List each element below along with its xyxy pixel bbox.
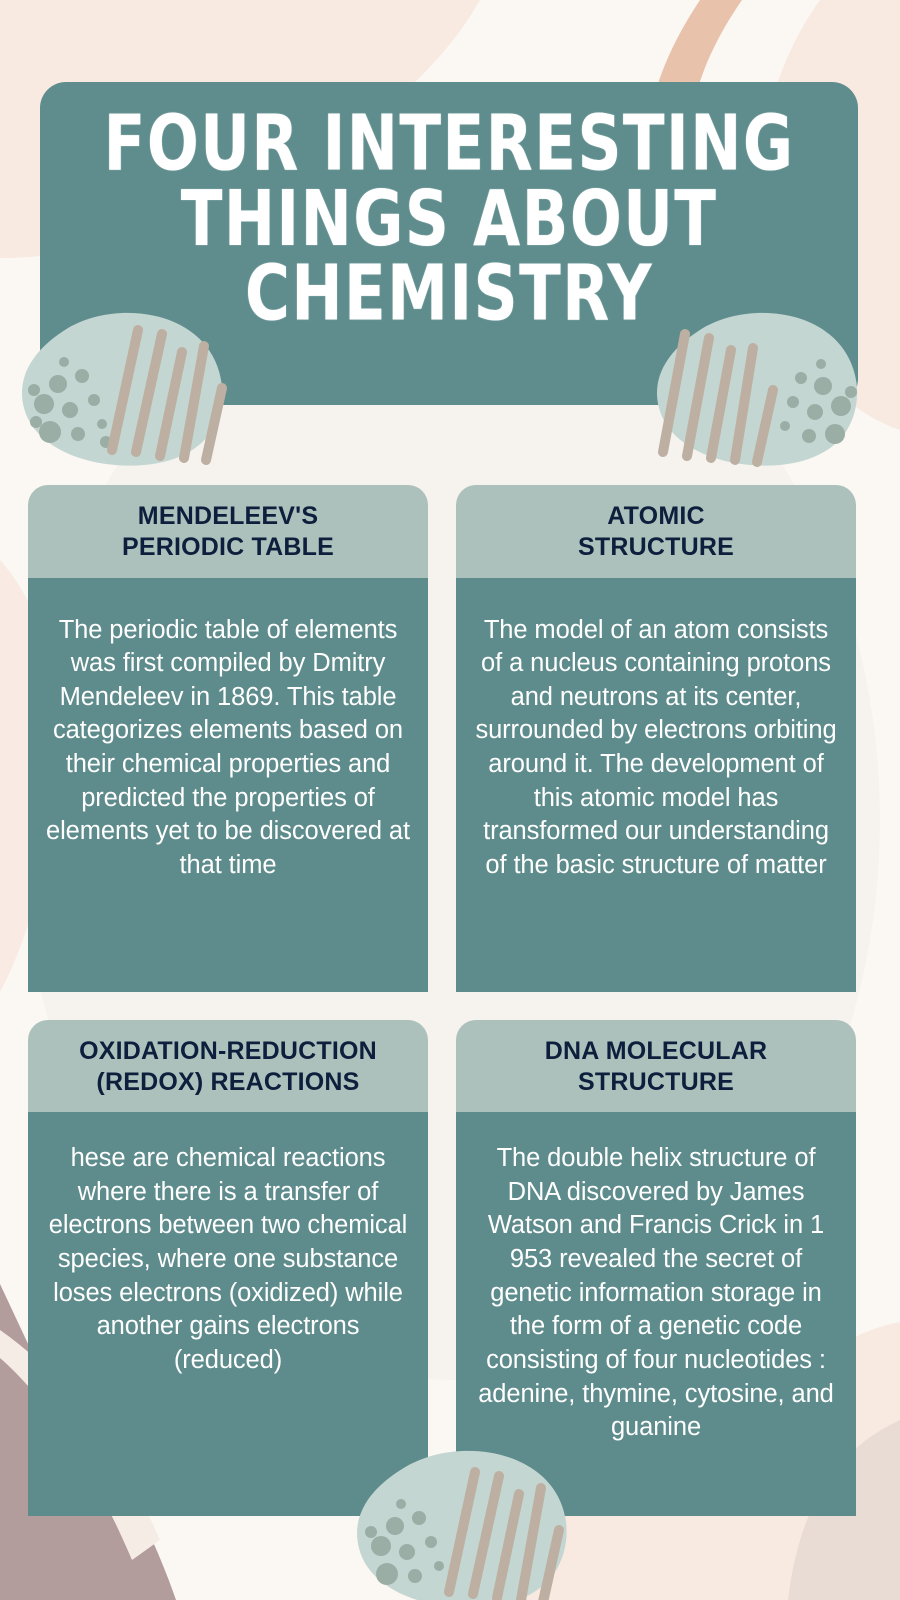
card-mendeleevs-periodic-table: MENDELEEV'S PERIODIC TABLE The periodic …	[28, 485, 428, 992]
card-body: The double helix structure of DNA discov…	[456, 1112, 856, 1516]
card-title: DNA MOLECULAR STRUCTURE	[470, 1036, 842, 1099]
card-title: MENDELEEV'S PERIODIC TABLE	[42, 501, 414, 564]
card-atomic-structure: ATOMIC STRUCTURE The model of an atom co…	[456, 485, 856, 992]
card-body: The periodic table of elements was first…	[28, 578, 428, 992]
infographic-poster: FOUR INTERESTING THINGS ABOUT CHEMISTRY	[0, 0, 900, 1600]
card-description: The model of an atom consists of a nucle…	[474, 614, 838, 883]
card-header: OXIDATION-REDUCTION (REDOX) REACTIONS	[28, 1020, 428, 1113]
card-body: hese are chemical reactions where there …	[28, 1112, 428, 1516]
card-dna-molecular-structure: DNA MOLECULAR STRUCTURE The double helix…	[456, 1020, 856, 1517]
cards-grid: MENDELEEV'S PERIODIC TABLE The periodic …	[28, 485, 856, 1516]
card-header: ATOMIC STRUCTURE	[456, 485, 856, 578]
card-body: The model of an atom consists of a nucle…	[456, 578, 856, 992]
card-title: OXIDATION-REDUCTION (REDOX) REACTIONS	[42, 1036, 414, 1099]
page-title: FOUR INTERESTING THINGS ABOUT CHEMISTRY	[104, 106, 795, 332]
card-header: MENDELEEV'S PERIODIC TABLE	[28, 485, 428, 578]
card-oxidation-reduction-reactions: OXIDATION-REDUCTION (REDOX) REACTIONS he…	[28, 1020, 428, 1517]
card-description: The double helix structure of DNA discov…	[474, 1142, 838, 1445]
card-description: hese are chemical reactions where there …	[46, 1142, 410, 1378]
card-title: ATOMIC STRUCTURE	[470, 501, 842, 564]
poster-title-banner: FOUR INTERESTING THINGS ABOUT CHEMISTRY	[40, 82, 858, 405]
card-header: DNA MOLECULAR STRUCTURE	[456, 1020, 856, 1113]
card-description: The periodic table of elements was first…	[46, 614, 410, 883]
